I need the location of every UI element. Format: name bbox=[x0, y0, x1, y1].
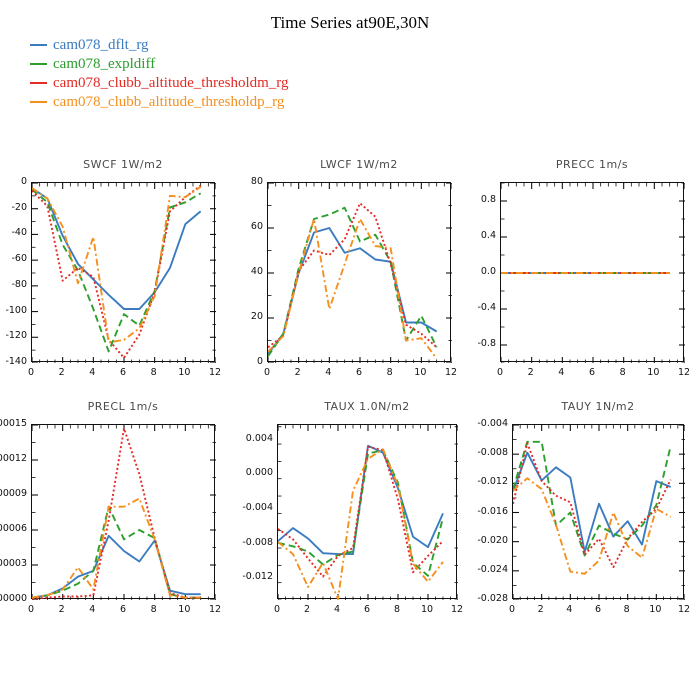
y-tick-label: -0.024 bbox=[428, 564, 508, 575]
legend-item-label: cam078_expldiff bbox=[53, 57, 155, 72]
y-tick-label: 0.0 bbox=[416, 266, 496, 277]
plot-area-precc bbox=[500, 182, 684, 362]
y-tick-label: -120 bbox=[0, 330, 27, 341]
x-tick-label: 10 bbox=[638, 367, 668, 378]
x-tick-label: 8 bbox=[382, 604, 412, 615]
legend-item: cam078_clubb_altitude_thresholdm_rg bbox=[30, 74, 289, 93]
x-tick-label: 8 bbox=[375, 367, 405, 378]
x-tick-label: 0 bbox=[485, 367, 515, 378]
y-tick-label: -0.020 bbox=[428, 535, 508, 546]
y-tick-label: 0.0000012 bbox=[0, 453, 27, 464]
y-tick-label: 0 bbox=[183, 356, 263, 367]
legend-item: cam078_dflt_rg bbox=[30, 36, 289, 55]
y-tick-label: -0.012 bbox=[428, 476, 508, 487]
y-tick-label: 0.0000006 bbox=[0, 523, 27, 534]
series-line bbox=[278, 450, 443, 576]
chart-panel-tauy: TAUY 1N/m2-0.004-0.008-0.012-0.016-0.020… bbox=[512, 400, 684, 621]
y-tick-label: -0.4 bbox=[416, 302, 496, 313]
legend-line-swatch bbox=[30, 82, 47, 84]
y-tick-label: -0.008 bbox=[428, 447, 508, 458]
series-line bbox=[32, 429, 201, 599]
y-tick-label: -80 bbox=[0, 279, 27, 290]
series-line bbox=[32, 499, 201, 598]
x-tick-label: 6 bbox=[108, 604, 138, 615]
x-tick-label: 6 bbox=[352, 604, 382, 615]
x-tick-label: 12 bbox=[436, 367, 466, 378]
y-tick-label: -0.8 bbox=[416, 338, 496, 349]
series-line bbox=[268, 219, 437, 359]
x-tick-label: 10 bbox=[640, 604, 670, 615]
x-tick-label: 6 bbox=[108, 367, 138, 378]
x-tick-label: 2 bbox=[516, 367, 546, 378]
x-tick-label: 8 bbox=[139, 367, 169, 378]
x-tick-label: 4 bbox=[546, 367, 576, 378]
x-tick-label: 0 bbox=[252, 367, 282, 378]
x-tick-label: 0 bbox=[16, 604, 46, 615]
series-line bbox=[32, 187, 201, 343]
x-tick-label: 0 bbox=[497, 604, 527, 615]
plot-area-tauy bbox=[512, 424, 684, 599]
chart-panel-precc: PRECC 1m/s0.80.40.0-0.4-0.8024681012 bbox=[500, 158, 684, 384]
y-tick-label: -0.004 bbox=[428, 418, 508, 429]
y-tick-label: -60 bbox=[0, 253, 27, 264]
series-line bbox=[32, 189, 201, 351]
x-tick-label: 6 bbox=[344, 367, 374, 378]
y-tick-label: -0.028 bbox=[428, 593, 508, 604]
y-tick-label: 0 bbox=[0, 176, 27, 187]
x-tick-label: 0 bbox=[262, 604, 292, 615]
page-title: Time Series at90E,30N bbox=[0, 13, 700, 33]
x-tick-label: 4 bbox=[322, 604, 352, 615]
x-tick-label: 8 bbox=[139, 604, 169, 615]
chart-title-precl: PRECL 1m/s bbox=[31, 400, 215, 413]
y-tick-label: 20 bbox=[183, 311, 263, 322]
chart-title-precc: PRECC 1m/s bbox=[500, 158, 684, 171]
x-tick-label: 0 bbox=[16, 367, 46, 378]
x-tick-label: 2 bbox=[47, 604, 77, 615]
x-tick-label: 10 bbox=[169, 367, 199, 378]
plot-area-precl bbox=[31, 424, 215, 599]
y-tick-label: 0.8 bbox=[416, 194, 496, 205]
legend-line-swatch bbox=[30, 101, 47, 103]
x-tick-label: 12 bbox=[200, 367, 230, 378]
x-tick-label: 8 bbox=[612, 604, 642, 615]
y-tick-label: 40 bbox=[183, 266, 263, 277]
legend-item: cam078_clubb_altitude_thresholdp_rg bbox=[30, 93, 289, 112]
x-tick-label: 12 bbox=[669, 367, 699, 378]
y-tick-label: -140 bbox=[0, 356, 27, 367]
x-tick-label: 6 bbox=[577, 367, 607, 378]
legend-item-label: cam078_clubb_altitude_thresholdm_rg bbox=[53, 76, 289, 91]
chart-panel-precl: PRECL 1m/s0.00000150.00000120.00000090.0… bbox=[31, 400, 215, 621]
x-tick-label: 10 bbox=[169, 604, 199, 615]
series-line bbox=[268, 203, 437, 347]
chart-title-swcf: SWCF 1W/m2 bbox=[31, 158, 215, 171]
y-tick-label: 0.0000009 bbox=[0, 488, 27, 499]
y-tick-label: 0.4 bbox=[416, 230, 496, 241]
y-tick-label: -40 bbox=[0, 227, 27, 238]
legend-item-label: cam078_clubb_altitude_thresholdp_rg bbox=[53, 95, 284, 110]
x-tick-label: 2 bbox=[292, 604, 322, 615]
series-line bbox=[513, 442, 671, 556]
x-tick-label: 4 bbox=[77, 604, 107, 615]
y-tick-label: -0.004 bbox=[193, 502, 273, 513]
series-line bbox=[268, 208, 437, 357]
x-tick-label: 12 bbox=[200, 604, 230, 615]
legend-line-swatch bbox=[30, 63, 47, 65]
legend-item-label: cam078_dflt_rg bbox=[53, 38, 149, 53]
chart-title-tauy: TAUY 1N/m2 bbox=[512, 400, 684, 413]
y-tick-label: 0.000 bbox=[193, 467, 273, 478]
x-tick-label: 4 bbox=[313, 367, 343, 378]
y-tick-label: 60 bbox=[183, 221, 263, 232]
x-tick-label: 2 bbox=[47, 367, 77, 378]
x-tick-label: 10 bbox=[405, 367, 435, 378]
y-tick-label: -20 bbox=[0, 202, 27, 213]
x-tick-label: 2 bbox=[526, 604, 556, 615]
x-tick-label: 12 bbox=[669, 604, 699, 615]
series-line bbox=[278, 449, 443, 599]
y-tick-label: -100 bbox=[0, 305, 27, 316]
series-line bbox=[278, 447, 443, 577]
y-tick-label: -0.016 bbox=[428, 506, 508, 517]
series-line bbox=[32, 536, 201, 598]
chart-title-taux: TAUX 1.0N/m2 bbox=[277, 400, 457, 413]
series-line bbox=[32, 507, 201, 598]
y-tick-label: -0.012 bbox=[193, 571, 273, 582]
y-tick-label: 0.0000015 bbox=[0, 418, 27, 429]
legend-item: cam078_expldiff bbox=[30, 55, 289, 74]
x-tick-label: 8 bbox=[608, 367, 638, 378]
series-line bbox=[513, 443, 671, 567]
y-tick-label: 80 bbox=[183, 176, 263, 187]
x-tick-label: 2 bbox=[283, 367, 313, 378]
x-tick-label: 12 bbox=[442, 604, 472, 615]
x-tick-label: 10 bbox=[412, 604, 442, 615]
x-tick-label: 4 bbox=[77, 367, 107, 378]
chart-title-lwcf: LWCF 1W/m2 bbox=[267, 158, 451, 171]
legend: cam078_dflt_rgcam078_expldiffcam078_club… bbox=[30, 36, 289, 112]
y-tick-label: -0.008 bbox=[193, 537, 273, 548]
x-tick-label: 6 bbox=[583, 604, 613, 615]
legend-line-swatch bbox=[30, 44, 47, 46]
x-tick-label: 4 bbox=[554, 604, 584, 615]
y-tick-label: 0.0000000 bbox=[0, 593, 27, 604]
y-tick-label: 0.0000003 bbox=[0, 558, 27, 569]
y-tick-label: 0.004 bbox=[193, 433, 273, 444]
